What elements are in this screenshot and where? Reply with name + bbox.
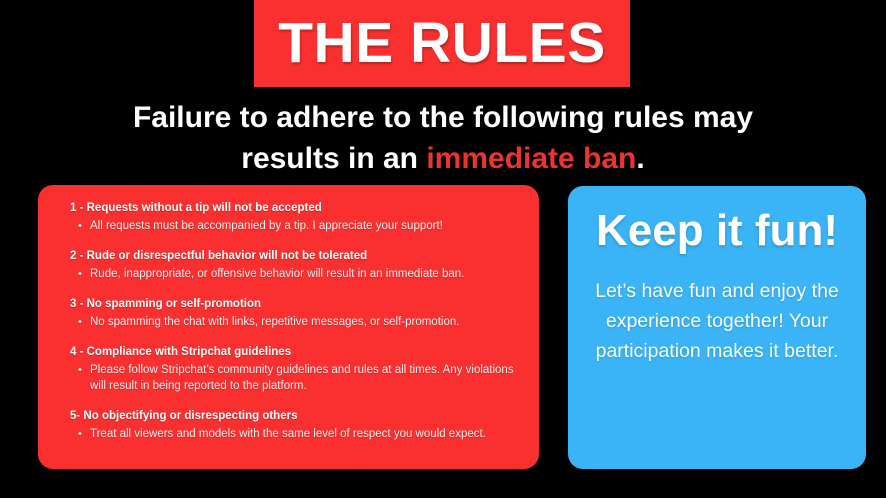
subtitle-accent-text: immediate ban	[426, 142, 636, 175]
rule-bullet: No spamming the chat with links, repetit…	[90, 314, 519, 330]
keep-it-fun-card: Keep it fun! Let’s have fun and enjoy th…	[568, 186, 866, 469]
rule-heading: 5- No objectifying or disrespecting othe…	[70, 409, 519, 424]
rule-block: 3 - No spamming or self-promotion No spa…	[70, 297, 519, 330]
fun-card-heading: Keep it fun!	[590, 204, 844, 258]
rule-heading: 4 - Compliance with Stripchat guidelines	[70, 345, 519, 360]
rule-bullet-list: Treat all viewers and models with the sa…	[70, 426, 519, 442]
rule-bullet-list: No spamming the chat with links, repetit…	[70, 314, 519, 330]
rule-heading: 3 - No spamming or self-promotion	[70, 297, 519, 312]
rules-card: 1 - Requests without a tip will not be a…	[38, 185, 539, 469]
rule-block: 1 - Requests without a tip will not be a…	[70, 201, 519, 234]
subtitle-line-2: results in an immediate ban.	[0, 138, 886, 179]
rule-bullet: Treat all viewers and models with the sa…	[90, 426, 519, 442]
rule-heading: 1 - Requests without a tip will not be a…	[70, 201, 519, 216]
rule-heading: 2 - Rude or disrespectful behavior will …	[70, 249, 519, 264]
fun-card-body: Let’s have fun and enjoy the experience …	[590, 276, 844, 366]
rule-bullet: Rude, inappropriate, or offensive behavi…	[90, 266, 519, 282]
subtitle-line-2-prefix: results in an	[241, 142, 426, 175]
subtitle-line-1: Failure to adhere to the following rules…	[0, 97, 886, 138]
rule-bullet-list: All requests must be accompanied by a ti…	[70, 218, 519, 234]
title-banner: THE RULES	[254, 0, 630, 87]
subtitle-line-2-suffix: .	[636, 142, 644, 175]
subtitle: Failure to adhere to the following rules…	[0, 97, 886, 179]
rule-bullet-list: Rude, inappropriate, or offensive behavi…	[70, 266, 519, 282]
rule-bullet-list: Please follow Stripchat’s community guid…	[70, 362, 519, 394]
rule-bullet: All requests must be accompanied by a ti…	[90, 218, 519, 234]
rule-block: 4 - Compliance with Stripchat guidelines…	[70, 345, 519, 394]
rule-block: 2 - Rude or disrespectful behavior will …	[70, 249, 519, 282]
page-title: THE RULES	[278, 15, 606, 72]
rule-bullet: Please follow Stripchat’s community guid…	[90, 362, 519, 394]
rule-block: 5- No objectifying or disrespecting othe…	[70, 409, 519, 442]
